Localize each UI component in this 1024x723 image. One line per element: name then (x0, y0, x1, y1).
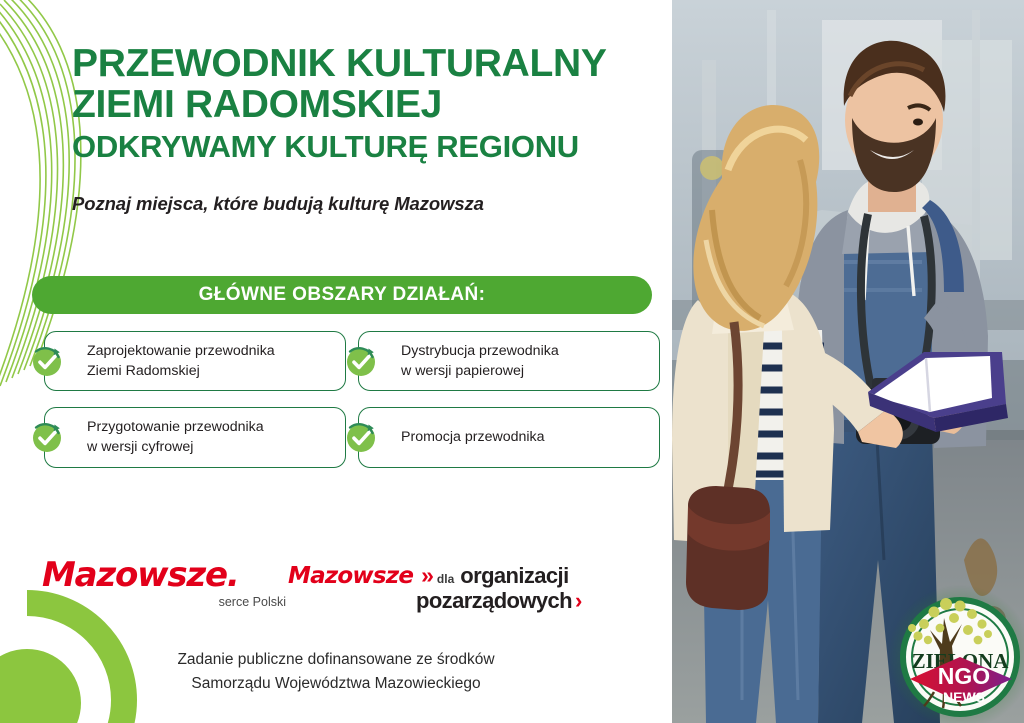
poster-canvas: PRZEWODNIK KULTURALNY ZIEMI RADOMSKIEJ O… (0, 0, 1024, 723)
mazowsze-wordmark: Mazowsze. (42, 558, 292, 592)
activity-card-list: Zaprojektowanie przewodnika Ziemi Radoms… (44, 331, 660, 468)
funding-note: Zadanie publiczne dofinansowane ze środk… (0, 648, 672, 696)
check-circle-arrow-icon (342, 341, 382, 381)
ngo-mazowsze-wordmark: Mazowsze (288, 563, 413, 589)
check-circle-arrow-icon (28, 417, 68, 457)
double-chevron-icon: » (421, 562, 430, 589)
activity-card-text: Przygotowanie przewodnika w wersji cyfro… (87, 417, 264, 457)
activity-card: Promocja przewodnika (358, 407, 660, 467)
activity-card: Przygotowanie przewodnika w wersji cyfro… (44, 407, 346, 467)
section-banner-label: GŁÓWNE OBSZARY DZIAŁAŃ: (199, 284, 486, 306)
hero-photo-illustration: ZIELONA NGO NEWS (672, 0, 1024, 723)
headline-line-3: ODKRYWAMY KULTURĘ REGIONU (72, 131, 662, 163)
badge-ngo-label: NGO (938, 663, 990, 689)
ngo-logo-line-1: Mazowsze » dla organizacji (288, 562, 663, 589)
mazowsze-serce-polski-logo: Mazowsze. serce Polski (42, 558, 292, 609)
ngo-line1-label: organizacji (460, 563, 568, 589)
section-banner: GŁÓWNE OBSZARY DZIAŁAŃ: (32, 276, 652, 314)
activity-card: Dystrybucja przewodnika w wersji papiero… (358, 331, 660, 391)
chevron-right-icon: › (575, 588, 582, 613)
check-circle-arrow-icon (342, 417, 382, 457)
page-title: PRZEWODNIK KULTURALNY ZIEMI RADOMSKIEJ O… (72, 44, 662, 163)
headline-line-1: PRZEWODNIK KULTURALNY (72, 44, 662, 85)
activity-card: Zaprojektowanie przewodnika Ziemi Radoms… (44, 331, 346, 391)
badge-news-label: NEWS (943, 689, 985, 705)
mazowsze-ngo-logo: Mazowsze » dla organizacji pozarządowych… (288, 562, 663, 614)
ngo-dla-label: dla (437, 572, 454, 586)
left-content-column: PRZEWODNIK KULTURALNY ZIEMI RADOMSKIEJ O… (0, 0, 672, 723)
hero-photo: ZIELONA NGO NEWS (672, 0, 1024, 723)
headline-line-2: ZIEMI RADOMSKIEJ (72, 85, 662, 126)
check-circle-arrow-icon (28, 341, 68, 381)
ngo-line2-label: pozarządowych (416, 588, 572, 613)
mazowsze-tagline: serce Polski (42, 595, 292, 609)
activity-card-text: Dystrybucja przewodnika w wersji papiero… (401, 341, 559, 381)
activity-card-text: Promocja przewodnika (401, 427, 545, 447)
activity-card-text: Zaprojektowanie przewodnika Ziemi Radoms… (87, 341, 275, 381)
subtitle: Poznaj miejsca, które budują kulturę Maz… (72, 193, 484, 215)
ngo-logo-line-2: pozarządowych› (288, 588, 663, 614)
